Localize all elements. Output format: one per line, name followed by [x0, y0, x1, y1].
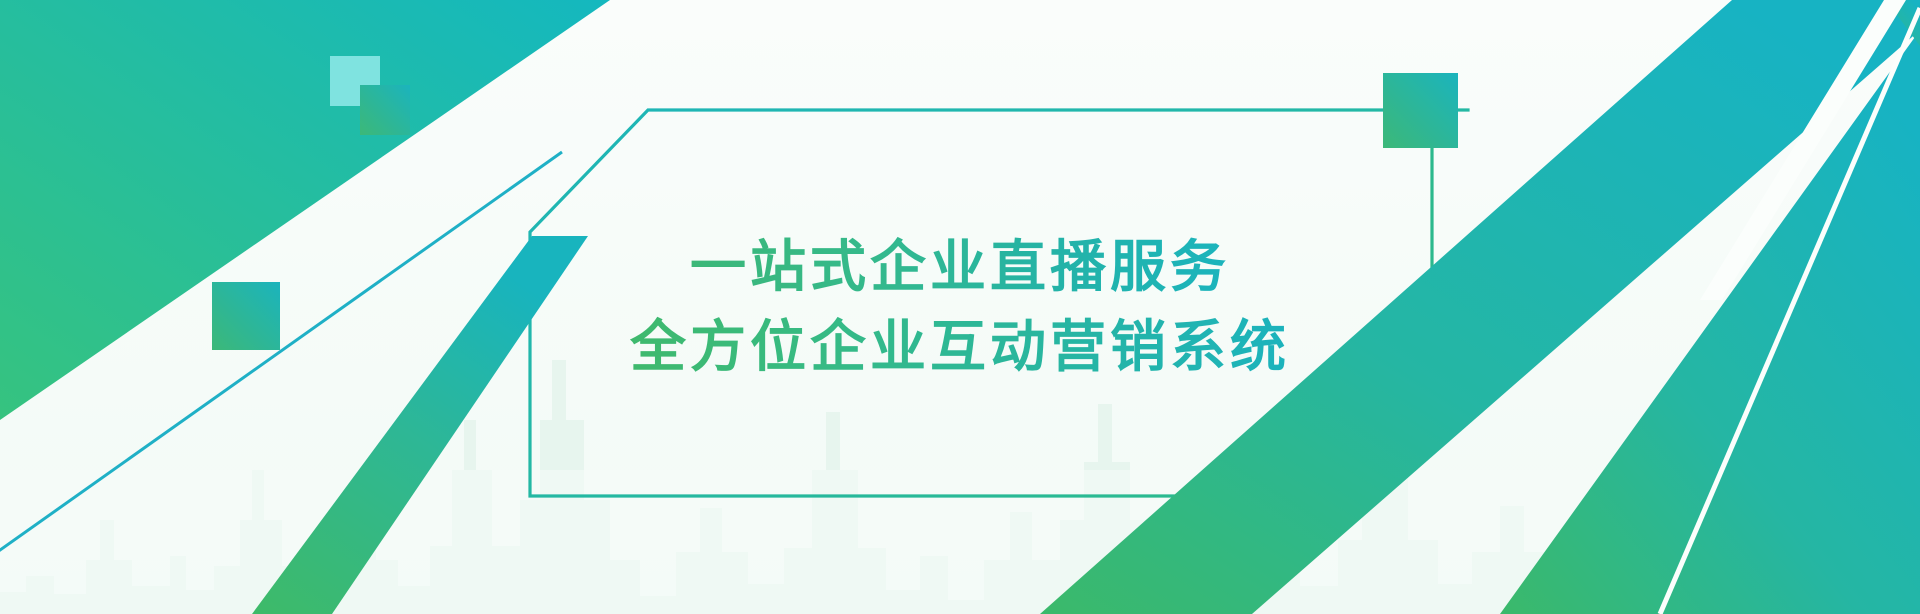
- banner-artwork: [0, 0, 1920, 614]
- decor-square-green-topright: [1383, 73, 1458, 148]
- promo-banner: 一站式企业直播服务 全方位企业互动营销系统: [0, 0, 1920, 614]
- decor-square-green-small: [360, 85, 410, 135]
- decor-square-green-left: [212, 282, 280, 350]
